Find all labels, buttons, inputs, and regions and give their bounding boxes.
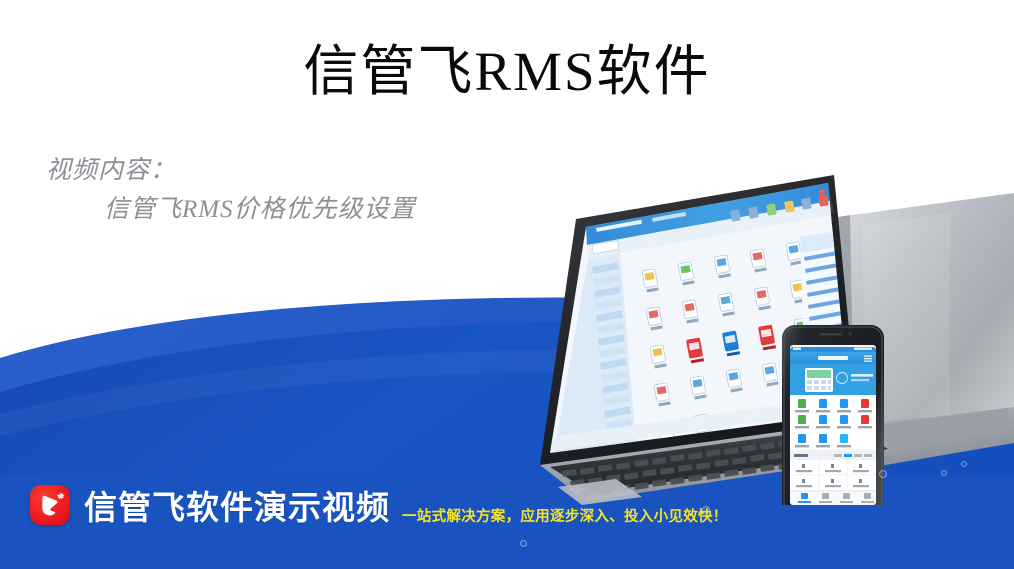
phone-earpiece bbox=[820, 333, 842, 336]
slide-canvas: 信管飞RMS软件 视频内容： 信管飞RMS价格优先级设置 bbox=[0, 0, 1014, 569]
bottom-banner: 信管飞软件演示视频 一站式解决方案，应用逐步深入、投入小见效快！ bbox=[0, 475, 1014, 535]
brand-tagline: 一站式解决方案，应用逐步深入、投入小见效快！ bbox=[402, 505, 728, 535]
phone-menu-icon[interactable] bbox=[864, 356, 872, 362]
page-title: 信管飞RMS软件 bbox=[0, 42, 1014, 103]
decorative-bubble bbox=[520, 540, 527, 547]
phone-front-camera-icon bbox=[848, 332, 851, 335]
subtitle-block: 视频内容： 信管飞RMS价格优先级设置 bbox=[46, 152, 416, 230]
decorative-bubble bbox=[961, 461, 967, 467]
phone-icon-grid-row3[interactable] bbox=[795, 434, 851, 447]
brand-bird-logo-icon bbox=[30, 485, 70, 525]
subtitle-value: 信管飞RMS价格优先级设置 bbox=[46, 191, 416, 230]
device-mockup-group bbox=[430, 175, 1014, 505]
brand-name: 信管飞软件演示视频 bbox=[84, 481, 390, 529]
subtitle-label: 视频内容： bbox=[46, 152, 416, 191]
